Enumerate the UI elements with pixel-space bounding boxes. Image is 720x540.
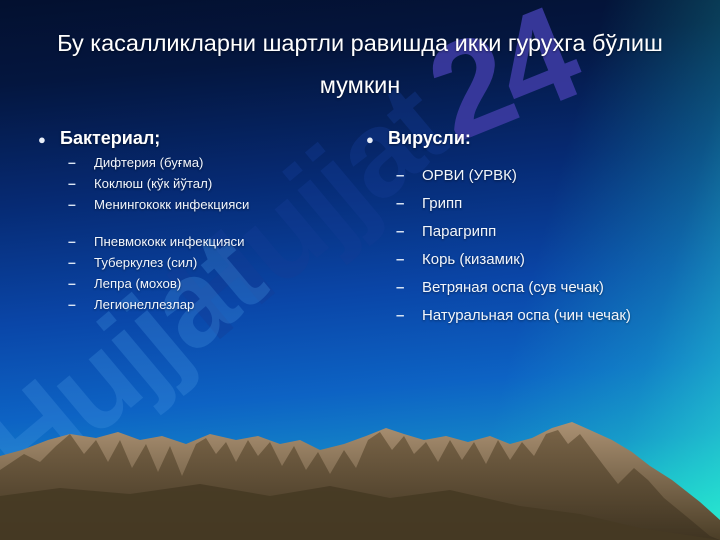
list-item: – Корь (кизамик) [396,246,716,274]
column-heading-row: ● Бактериал; [38,126,368,152]
bullet-dash-icon: – [68,252,94,273]
list-item: – Грипп [396,190,716,218]
bullet-dash-icon: – [68,294,94,315]
bullet-dash-icon: – [68,273,94,294]
list-item: – Пневмококк инфекцияси [68,231,368,252]
bullet-dash-icon: – [396,218,422,246]
list-item: – Менингококк инфекцияси [68,194,368,215]
list-item: – Дифтерия (буғма) [68,152,368,173]
bullet-dot-icon: ● [366,128,388,152]
bacterial-item-list: – Дифтерия (буғма) – Коклюш (кўк йўтал) … [38,152,368,315]
list-item: – Туберкулез (сил) [68,252,368,273]
list-item-label: Натуральная оспа (чин чечак) [422,302,631,330]
list-item: – Лепра (мохов) [68,273,368,294]
slide-title: Бу касалликларни шартли равишда икки гур… [30,22,690,106]
list-item: – Парагрипп [396,218,716,246]
list-spacer [38,215,368,231]
list-item-label: Коклюш (кўк йўтал) [94,173,212,194]
list-item-label: Туберкулез (сил) [94,252,197,273]
bullet-dash-icon: – [68,152,94,173]
bullet-dash-icon: – [68,173,94,194]
list-item-label: Парагрипп [422,218,496,246]
viral-item-list: – ОРВИ (УРВК) – Грипп – Парагрипп – Корь… [366,162,716,330]
column-heading: Бактериал; [60,126,160,150]
list-item-label: Менингококк инфекцияси [94,194,249,215]
mountain-range-illustration [0,410,720,540]
list-item: – ОРВИ (УРВК) [396,162,716,190]
list-item-label: Грипп [422,190,462,218]
bullet-dash-icon: – [396,162,422,190]
column-heading: Вирусли: [388,126,471,150]
list-item-label: Пневмококк инфекцияси [94,231,244,252]
column-heading-row: ● Вирусли: [366,126,716,152]
list-item-label: ОРВИ (УРВК) [422,162,517,190]
list-item-label: Дифтерия (буғма) [94,152,203,173]
list-item-label: Ветряная оспа (сув чечак) [422,274,604,302]
column-viral: ● Вирусли: – ОРВИ (УРВК) – Грипп – Параг… [366,126,716,330]
list-item-label: Легионеллезлар [94,294,194,315]
bullet-dot-icon: ● [38,128,60,152]
list-item: – Ветряная оспа (сув чечак) [396,274,716,302]
column-bacterial: ● Бактериал; – Дифтерия (буғма) – Коклюш… [38,126,368,315]
list-item-label: Корь (кизамик) [422,246,525,274]
presentation-slide: Hujjat 24 Hujjat Бу касалликларни шартли… [0,0,720,540]
bullet-dash-icon: – [396,190,422,218]
bullet-dash-icon: – [68,231,94,252]
list-item: – Натуральная оспа (чин чечак) [396,302,716,330]
list-item-label: Лепра (мохов) [94,273,181,294]
bullet-dash-icon: – [396,274,422,302]
list-item: – Коклюш (кўк йўтал) [68,173,368,194]
bullet-dash-icon: – [68,194,94,215]
bullet-dash-icon: – [396,246,422,274]
bullet-dash-icon: – [396,302,422,330]
list-item: – Легионеллезлар [68,294,368,315]
